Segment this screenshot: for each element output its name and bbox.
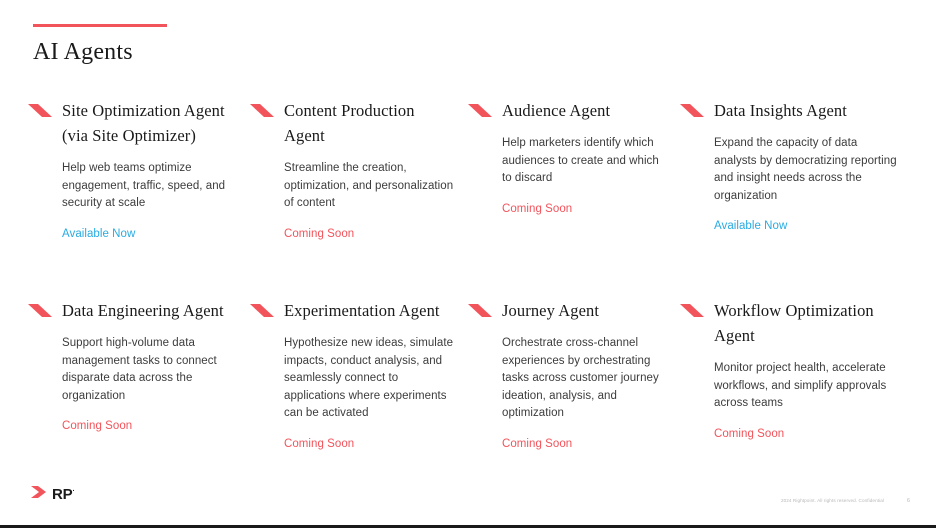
agent-card-grid: Site Optimization Agent (via Site Optimi… [28, 98, 912, 452]
card-title: Experimentation Agent [284, 298, 454, 323]
card-description: Expand the capacity of data analysts by … [714, 135, 898, 205]
card-description: Monitor project health, accelerate workf… [714, 360, 898, 413]
card-header: Data Engineering Agent [28, 298, 236, 323]
agent-card[interactable]: Workflow Optimization Agent Monitor proj… [680, 298, 912, 452]
card-title: Journey Agent [502, 298, 666, 323]
rightpoint-logo: RP· [30, 482, 75, 507]
card-header: Audience Agent [468, 98, 666, 123]
red-parallelogram-marker-icon [680, 304, 704, 318]
page-number: 6 [907, 498, 910, 504]
agent-card[interactable]: Site Optimization Agent (via Site Optimi… [28, 98, 250, 298]
copyright-text: 2024 Rightpoint. All rights reserved. Co… [781, 498, 884, 503]
agent-card[interactable]: Data Engineering Agent Support high-volu… [28, 298, 250, 452]
agent-card[interactable]: Content Production Agent Streamline the … [250, 98, 468, 298]
card-title: Data Engineering Agent [62, 298, 236, 323]
red-parallelogram-marker-icon [468, 104, 492, 118]
red-parallelogram-marker-icon [680, 104, 704, 118]
card-description: Help web teams optimize engagement, traf… [62, 160, 236, 213]
red-parallelogram-marker-icon [28, 104, 52, 118]
status-badge[interactable]: Available Now [714, 218, 898, 234]
card-header: Experimentation Agent [250, 298, 454, 323]
red-parallelogram-marker-icon [250, 304, 274, 318]
status-badge[interactable]: Coming Soon [284, 436, 454, 452]
card-title: Audience Agent [502, 98, 666, 123]
card-title: Site Optimization Agent (via Site Optimi… [62, 98, 236, 148]
card-description: Hypothesize new ideas, simulate impacts,… [284, 335, 454, 423]
status-badge[interactable]: Coming Soon [284, 226, 454, 242]
page-title: AI Agents [33, 36, 133, 68]
card-header: Site Optimization Agent (via Site Optimi… [28, 98, 236, 148]
status-badge[interactable]: Coming Soon [502, 436, 666, 452]
status-badge[interactable]: Coming Soon [62, 418, 236, 434]
card-title: Workflow Optimization Agent [714, 298, 898, 348]
card-description: Help marketers identify which audiences … [502, 135, 666, 188]
card-description: Streamline the creation, optimization, a… [284, 160, 454, 213]
red-parallelogram-marker-icon [250, 104, 274, 118]
card-description: Support high-volume data management task… [62, 335, 236, 405]
logo-trademark: · [72, 488, 74, 495]
red-parallelogram-marker-icon [28, 304, 52, 318]
agent-card[interactable]: Experimentation Agent Hypothesize new id… [250, 298, 468, 452]
card-header: Workflow Optimization Agent [680, 298, 898, 348]
status-badge[interactable]: Available Now [62, 226, 236, 242]
status-badge[interactable]: Coming Soon [714, 426, 898, 442]
card-header: Content Production Agent [250, 98, 454, 148]
slide: AI Agents Site Optimization Agent (via S… [0, 0, 936, 528]
logo-letters: RP [52, 486, 72, 503]
agent-card[interactable]: Journey Agent Orchestrate cross-channel … [468, 298, 680, 452]
title-rule [33, 24, 167, 27]
card-header: Data Insights Agent [680, 98, 898, 123]
card-title: Content Production Agent [284, 98, 454, 148]
arrow-chevron-icon [30, 482, 50, 507]
card-title: Data Insights Agent [714, 98, 898, 123]
card-description: Orchestrate cross-channel experiences by… [502, 335, 666, 423]
status-badge[interactable]: Coming Soon [502, 201, 666, 217]
agent-card[interactable]: Audience Agent Help marketers identify w… [468, 98, 680, 298]
slide-footer: RP· 2024 Rightpoint. All rights reserved… [0, 467, 936, 525]
agent-card[interactable]: Data Insights Agent Expand the capacity … [680, 98, 912, 298]
logo-wordmark: RP· [52, 486, 75, 503]
red-parallelogram-marker-icon [468, 304, 492, 318]
card-header: Journey Agent [468, 298, 666, 323]
